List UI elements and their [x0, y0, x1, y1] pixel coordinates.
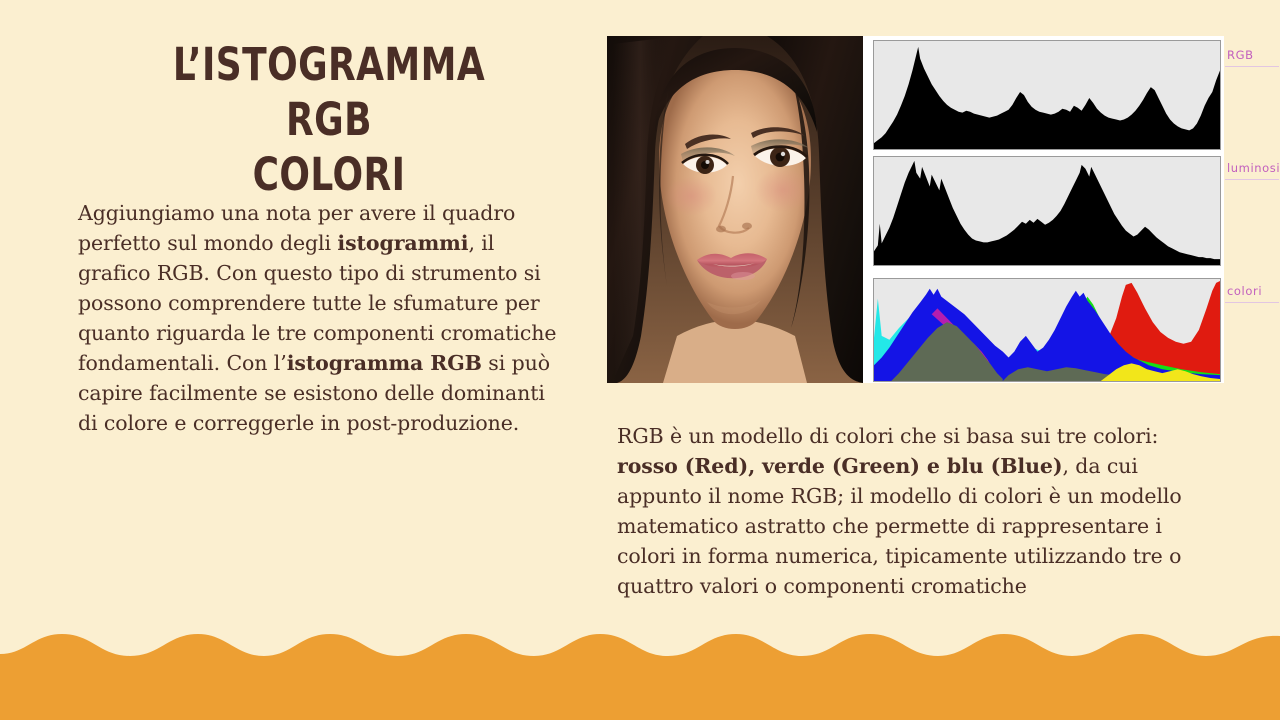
histogram-colori-plot [873, 278, 1221, 382]
histogram-colori-label: colori [1227, 284, 1262, 298]
histogram-rgb-graphic [874, 41, 1220, 149]
histogram-panel: RGB luminosità [863, 36, 1224, 383]
histogram-rgb-label-underline [1225, 66, 1279, 67]
histogram-colori [873, 278, 1221, 382]
left-text-bold-2: istogramma RGB [287, 351, 482, 375]
left-body-paragraph: Aggiungiamo una nota per avere il quadro… [78, 198, 568, 438]
page-title-line-2: COLORI [125, 148, 533, 203]
histogram-luminosita-plot [873, 156, 1221, 266]
right-text-bold-1: rosso (Red), verde (Green) e blu (Blue) [617, 454, 1062, 478]
media-block: RGB luminosità [607, 36, 1224, 383]
histogram-rgb [873, 40, 1221, 150]
page-title-line-1: L’ISTOGRAMMA RGB [125, 38, 533, 148]
right-body-paragraph: RGB è un modello di colori che si basa s… [617, 421, 1207, 601]
left-text-bold-1: istogrammi [337, 231, 468, 255]
histogram-rgb-label: RGB [1227, 48, 1254, 62]
histogram-colori-graphic [874, 279, 1220, 381]
bottom-wave-decoration [0, 610, 1280, 720]
right-text-part-1: RGB è un modello di colori che si basa s… [617, 424, 1158, 448]
histogram-luminosita-label-underline [1225, 179, 1279, 180]
histogram-colori-label-underline [1225, 302, 1279, 303]
bottom-wave-graphic [0, 610, 1280, 720]
portrait-photo-graphic [607, 36, 863, 383]
page-title: L’ISTOGRAMMA RGB COLORI [125, 38, 533, 203]
histogram-rgb-plot [873, 40, 1221, 150]
histogram-luminosita-graphic [874, 157, 1220, 265]
histogram-luminosita-label: luminosità [1227, 161, 1280, 175]
slide: L’ISTOGRAMMA RGB COLORI Aggiungiamo una … [0, 0, 1280, 720]
histogram-luminosita [873, 156, 1221, 266]
portrait-photo [607, 36, 863, 383]
